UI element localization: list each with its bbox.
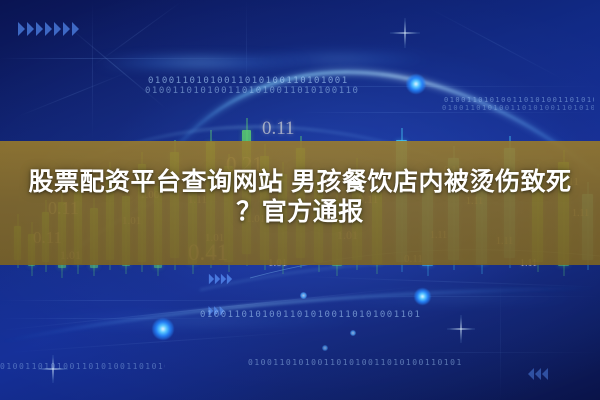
page-title-line-2: ？官方通报: [0, 198, 600, 228]
page-title-line-1: 股票配资平台查询网站 男孩餐饮店内被烫伤致死: [0, 168, 600, 198]
banner-image: 01001101010011010100110101001101010011 0…: [0, 0, 600, 400]
page-title: 股票配资平台查询网站 男孩餐饮店内被烫伤致死 ？官方通报: [0, 168, 600, 227]
price-label: 0.11: [262, 118, 295, 140]
